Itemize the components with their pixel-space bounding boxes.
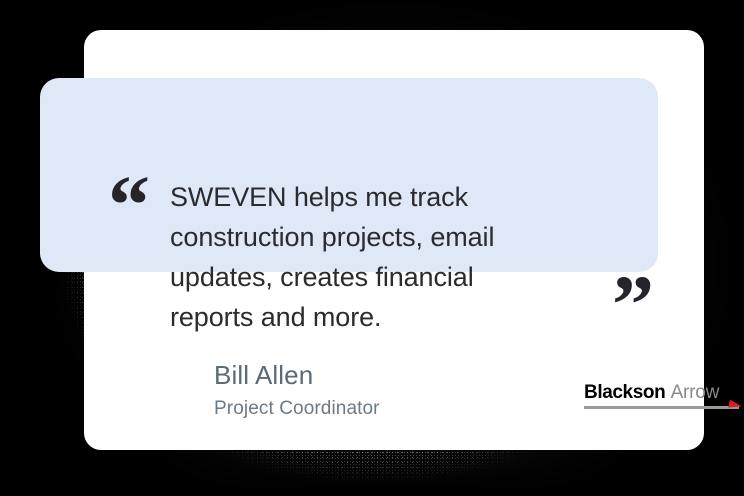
author-role: Project Coordinator <box>214 396 380 422</box>
logo-word-arrow: Arrow <box>671 382 720 403</box>
logo-wordmark: Blackson Arrow <box>584 382 744 404</box>
logo-red-arrow-icon <box>728 400 742 411</box>
company-logo: Blackson Arrow <box>584 382 744 409</box>
logo-word-blackson: Blackson <box>584 382 665 403</box>
quote-text: SWEVEN helps me track construction proje… <box>170 177 590 337</box>
quote-bubble: “ SWEVEN helps me track construction pro… <box>40 78 658 272</box>
author-block: Bill Allen Project Coordinator <box>214 358 380 422</box>
closing-quote-icon: ” <box>612 264 654 348</box>
canvas: Bill Allen Project Coordinator Blackson … <box>0 0 744 496</box>
author-name: Bill Allen <box>214 358 380 392</box>
opening-quote-icon: “ <box>108 164 150 248</box>
logo-underline-rule <box>584 406 739 409</box>
